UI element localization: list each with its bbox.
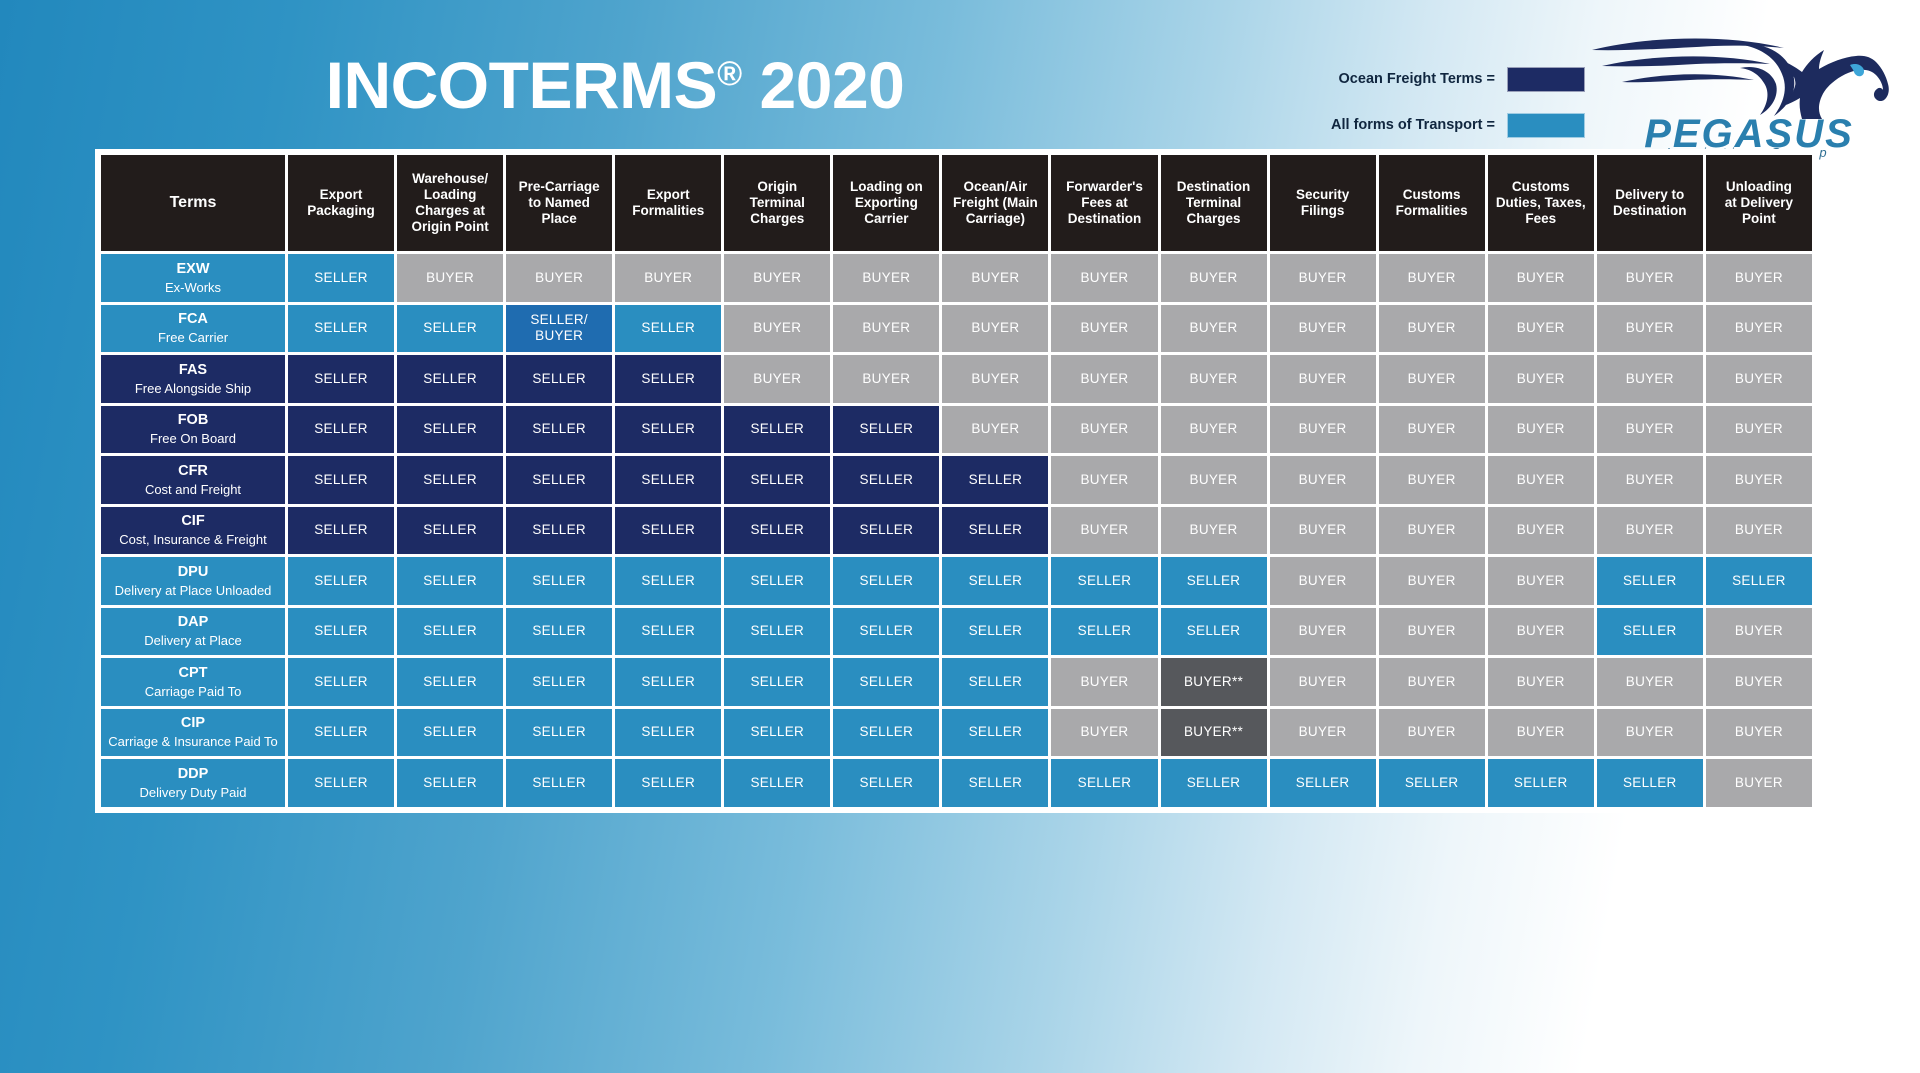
- cell-dpu-customs-formalities: BUYER: [1379, 557, 1485, 605]
- column-header-line: Destination: [1177, 179, 1251, 194]
- cell-cpt-loading-on-exporting-carrier: SELLER: [833, 658, 939, 706]
- column-header-line: Terminal: [1186, 195, 1241, 210]
- cell-cip-warehouse-loading-charges-at-origin-point: SELLER: [397, 709, 503, 757]
- cell-fas-warehouse-loading-charges-at-origin-point: SELLER: [397, 355, 503, 403]
- cell-ddp-warehouse-loading-charges-at-origin-point: SELLER: [397, 759, 503, 807]
- cell-fob-customs-duties-taxes-fees: BUYER: [1488, 406, 1594, 454]
- cell-dap-customs-formalities: BUYER: [1379, 608, 1485, 656]
- term-label-cip: CIPCarriage & Insurance Paid To: [101, 709, 285, 757]
- column-header-line: Ocean/Air: [964, 179, 1028, 194]
- term-name: Cost and Freight: [104, 482, 282, 498]
- cell-dpu-pre-carriage-to-named-place: SELLER: [506, 557, 612, 605]
- cell-fca-export-packaging: SELLER: [288, 305, 394, 353]
- cell-cip-origin-terminal-charges: SELLER: [724, 709, 830, 757]
- cell-ddp-security-filings: SELLER: [1270, 759, 1376, 807]
- legend-label-ocean-freight-terms: Ocean Freight Terms =: [1339, 71, 1495, 87]
- cell-exw-forwarder-s-fees-at-destination: BUYER: [1051, 254, 1157, 302]
- term-code: DAP: [104, 613, 282, 631]
- cell-ddp-destination-terminal-charges: SELLER: [1161, 759, 1267, 807]
- cell-cpt-warehouse-loading-charges-at-origin-point: SELLER: [397, 658, 503, 706]
- cell-cpt-security-filings: BUYER: [1270, 658, 1376, 706]
- term-label-dpu: DPUDelivery at Place Unloaded: [101, 557, 285, 605]
- cell-ddp-delivery-to-destination: SELLER: [1597, 759, 1703, 807]
- cell-fas-delivery-to-destination: BUYER: [1597, 355, 1703, 403]
- table-row: FCAFree CarrierSELLERSELLERSELLER/BUYERS…: [101, 305, 1812, 353]
- cell-cfr-customs-duties-taxes-fees: BUYER: [1488, 456, 1594, 504]
- term-code: FCA: [104, 310, 282, 328]
- term-name: Free Carrier: [104, 330, 282, 346]
- column-header-line: Pre-Carriage: [519, 179, 600, 194]
- cell-cip-pre-carriage-to-named-place: SELLER: [506, 709, 612, 757]
- column-header-line: Terms: [170, 194, 217, 211]
- cell-cpt-pre-carriage-to-named-place: SELLER: [506, 658, 612, 706]
- cell-dpu-forwarder-s-fees-at-destination: SELLER: [1051, 557, 1157, 605]
- cell-cfr-delivery-to-destination: BUYER: [1597, 456, 1703, 504]
- pegasus-horse-icon: [1588, 22, 1910, 120]
- cell-dpu-loading-on-exporting-carrier: SELLER: [833, 557, 939, 605]
- cell-dpu-unloading-at-delivery-point: SELLER: [1706, 557, 1812, 605]
- cell-fca-unloading-at-delivery-point: BUYER: [1706, 305, 1812, 353]
- term-name: Carriage Paid To: [104, 684, 282, 700]
- cell-dpu-origin-terminal-charges: SELLER: [724, 557, 830, 605]
- cell-dpu-export-packaging: SELLER: [288, 557, 394, 605]
- column-header-line: Packaging: [307, 203, 375, 218]
- term-label-cfr: CFRCost and Freight: [101, 456, 285, 504]
- cell-dpu-security-filings: BUYER: [1270, 557, 1376, 605]
- column-header-line: Customs: [1403, 187, 1461, 202]
- cell-cpt-forwarder-s-fees-at-destination: BUYER: [1051, 658, 1157, 706]
- cell-ddp-export-packaging: SELLER: [288, 759, 394, 807]
- column-header-line: Terminal: [750, 195, 805, 210]
- cell-ddp-forwarder-s-fees-at-destination: SELLER: [1051, 759, 1157, 807]
- page-title: INCOTERMS® 2020: [0, 52, 1230, 118]
- table-header-row: TermsExportPackagingWarehouse/LoadingCha…: [101, 155, 1812, 251]
- cell-cfr-unloading-at-delivery-point: BUYER: [1706, 456, 1812, 504]
- cell-cip-destination-terminal-charges: BUYER**: [1161, 709, 1267, 757]
- cell-fas-ocean-air-freight-main-carriage: BUYER: [942, 355, 1048, 403]
- cell-fca-origin-terminal-charges: BUYER: [724, 305, 830, 353]
- cell-exw-destination-terminal-charges: BUYER: [1161, 254, 1267, 302]
- cell-ddp-customs-formalities: SELLER: [1379, 759, 1485, 807]
- cell-cpt-destination-terminal-charges: BUYER**: [1161, 658, 1267, 706]
- cell-cpt-delivery-to-destination: BUYER: [1597, 658, 1703, 706]
- cell-cip-ocean-air-freight-main-carriage: SELLER: [942, 709, 1048, 757]
- cell-fca-delivery-to-destination: BUYER: [1597, 305, 1703, 353]
- column-header-line: Charges: [750, 211, 804, 226]
- column-header-security-filings: SecurityFilings: [1270, 155, 1376, 251]
- cell-exw-export-packaging: SELLER: [288, 254, 394, 302]
- cell-fas-origin-terminal-charges: BUYER: [724, 355, 830, 403]
- cell-fas-destination-terminal-charges: BUYER: [1161, 355, 1267, 403]
- table-row: DDPDelivery Duty PaidSELLERSELLERSELLERS…: [101, 759, 1812, 807]
- cell-cif-loading-on-exporting-carrier: SELLER: [833, 507, 939, 555]
- cell-fob-forwarder-s-fees-at-destination: BUYER: [1051, 406, 1157, 454]
- column-header-line: Forwarder's: [1066, 179, 1143, 194]
- term-name: Delivery Duty Paid: [104, 785, 282, 801]
- pegasus-logo: PEGASUS Logistics Group: [1588, 22, 1910, 162]
- cell-cfr-destination-terminal-charges: BUYER: [1161, 456, 1267, 504]
- term-label-exw: EXWEx-Works: [101, 254, 285, 302]
- column-header-delivery-to-destination: Delivery toDestination: [1597, 155, 1703, 251]
- column-header-line: Place: [542, 211, 577, 226]
- cell-cip-delivery-to-destination: BUYER: [1597, 709, 1703, 757]
- column-header-pre-carriage-to-named-place: Pre-Carriageto NamedPlace: [506, 155, 612, 251]
- cell-dpu-export-formalities: SELLER: [615, 557, 721, 605]
- legend-item-ocean-freight-terms: Ocean Freight Terms =: [1285, 62, 1585, 96]
- cell-cip-unloading-at-delivery-point: BUYER: [1706, 709, 1812, 757]
- cell-cif-export-formalities: SELLER: [615, 507, 721, 555]
- cell-fas-export-formalities: SELLER: [615, 355, 721, 403]
- cell-cfr-warehouse-loading-charges-at-origin-point: SELLER: [397, 456, 503, 504]
- column-header-line: Formalities: [1396, 203, 1468, 218]
- incoterms-table-container: TermsExportPackagingWarehouse/LoadingCha…: [95, 149, 1818, 813]
- term-code: EXW: [104, 260, 282, 278]
- column-header-destination-terminal-charges: DestinationTerminalCharges: [1161, 155, 1267, 251]
- column-header-line: at Delivery: [1725, 195, 1793, 210]
- cell-fca-loading-on-exporting-carrier: BUYER: [833, 305, 939, 353]
- legend-label-all-forms-of-transport: All forms of Transport =: [1331, 117, 1495, 133]
- cell-fca-destination-terminal-charges: BUYER: [1161, 305, 1267, 353]
- cell-cif-destination-terminal-charges: BUYER: [1161, 507, 1267, 555]
- column-header-forwarder-s-fees-at-destination: Forwarder'sFees atDestination: [1051, 155, 1157, 251]
- cell-dap-export-packaging: SELLER: [288, 608, 394, 656]
- term-label-fob: FOBFree On Board: [101, 406, 285, 454]
- term-name: Delivery at Place: [104, 633, 282, 649]
- cell-cip-export-packaging: SELLER: [288, 709, 394, 757]
- term-code: DDP: [104, 765, 282, 783]
- term-code: CFR: [104, 462, 282, 480]
- column-header-line: Duties, Taxes,: [1496, 195, 1586, 210]
- cell-fas-customs-formalities: BUYER: [1379, 355, 1485, 403]
- cell-dap-forwarder-s-fees-at-destination: SELLER: [1051, 608, 1157, 656]
- cell-ddp-export-formalities: SELLER: [615, 759, 721, 807]
- cell-ddp-pre-carriage-to-named-place: SELLER: [506, 759, 612, 807]
- column-header-customs-formalities: CustomsFormalities: [1379, 155, 1485, 251]
- cell-cpt-origin-terminal-charges: SELLER: [724, 658, 830, 706]
- term-name: Ex-Works: [104, 280, 282, 296]
- cell-dap-destination-terminal-charges: SELLER: [1161, 608, 1267, 656]
- cell-cip-security-filings: BUYER: [1270, 709, 1376, 757]
- term-code: FAS: [104, 361, 282, 379]
- cell-ddp-loading-on-exporting-carrier: SELLER: [833, 759, 939, 807]
- cell-dap-unloading-at-delivery-point: BUYER: [1706, 608, 1812, 656]
- cell-fob-customs-formalities: BUYER: [1379, 406, 1485, 454]
- cell-cif-customs-formalities: BUYER: [1379, 507, 1485, 555]
- term-label-fca: FCAFree Carrier: [101, 305, 285, 353]
- legend-item-all-forms-of-transport: All forms of Transport =: [1285, 108, 1585, 142]
- term-name: Delivery at Place Unloaded: [104, 583, 282, 599]
- column-header-line: Customs: [1512, 179, 1570, 194]
- cell-cpt-export-packaging: SELLER: [288, 658, 394, 706]
- cell-cfr-security-filings: BUYER: [1270, 456, 1376, 504]
- table-row: FASFree Alongside ShipSELLERSELLERSELLER…: [101, 355, 1812, 403]
- term-code: CIF: [104, 512, 282, 530]
- cell-exw-export-formalities: BUYER: [615, 254, 721, 302]
- cell-fca-pre-carriage-to-named-place: SELLER/BUYER: [506, 305, 612, 353]
- cell-cfr-forwarder-s-fees-at-destination: BUYER: [1051, 456, 1157, 504]
- cell-cpt-ocean-air-freight-main-carriage: SELLER: [942, 658, 1048, 706]
- cell-dap-loading-on-exporting-carrier: SELLER: [833, 608, 939, 656]
- cell-fca-security-filings: BUYER: [1270, 305, 1376, 353]
- cell-exw-delivery-to-destination: BUYER: [1597, 254, 1703, 302]
- cell-fas-unloading-at-delivery-point: BUYER: [1706, 355, 1812, 403]
- column-header-loading-on-exporting-carrier: Loading onExportingCarrier: [833, 155, 939, 251]
- cell-fca-forwarder-s-fees-at-destination: BUYER: [1051, 305, 1157, 353]
- incoterms-infographic: INCOTERMS® 2020 Ocean Freight Terms = Al…: [0, 0, 1920, 1073]
- term-name: Cost, Insurance & Freight: [104, 532, 282, 548]
- column-header-line: to Named: [528, 195, 590, 210]
- cell-dpu-customs-duties-taxes-fees: BUYER: [1488, 557, 1594, 605]
- cell-cif-delivery-to-destination: BUYER: [1597, 507, 1703, 555]
- cell-ddp-ocean-air-freight-main-carriage: SELLER: [942, 759, 1048, 807]
- table-row: FOBFree On BoardSELLERSELLERSELLERSELLER…: [101, 406, 1812, 454]
- cell-cfr-pre-carriage-to-named-place: SELLER: [506, 456, 612, 504]
- cell-ddp-origin-terminal-charges: SELLER: [724, 759, 830, 807]
- cell-fca-customs-formalities: BUYER: [1379, 305, 1485, 353]
- cell-cif-unloading-at-delivery-point: BUYER: [1706, 507, 1812, 555]
- term-label-cif: CIFCost, Insurance & Freight: [101, 507, 285, 555]
- column-header-line: Carrier: [864, 211, 908, 226]
- column-header-line: Filings: [1301, 203, 1345, 218]
- term-code: DPU: [104, 563, 282, 581]
- column-header-customs-duties-taxes-fees: CustomsDuties, Taxes,Fees: [1488, 155, 1594, 251]
- table-row: CPTCarriage Paid ToSELLERSELLERSELLERSEL…: [101, 658, 1812, 706]
- legend: Ocean Freight Terms = All forms of Trans…: [1285, 62, 1585, 154]
- legend-swatch-all-forms-of-transport: [1507, 113, 1585, 138]
- term-label-ddp: DDPDelivery Duty Paid: [101, 759, 285, 807]
- cell-fob-destination-terminal-charges: BUYER: [1161, 406, 1267, 454]
- page-title-main: INCOTERMS: [326, 48, 718, 122]
- term-name: Carriage & Insurance Paid To: [104, 734, 282, 750]
- cell-fca-export-formalities: SELLER: [615, 305, 721, 353]
- table-body: EXWEx-WorksSELLERBUYERBUYERBUYERBUYERBUY…: [101, 254, 1812, 807]
- cell-fob-pre-carriage-to-named-place: SELLER: [506, 406, 612, 454]
- table-row: CFRCost and FreightSELLERSELLERSELLERSEL…: [101, 456, 1812, 504]
- cell-dpu-warehouse-loading-charges-at-origin-point: SELLER: [397, 557, 503, 605]
- cell-dap-warehouse-loading-charges-at-origin-point: SELLER: [397, 608, 503, 656]
- cell-dap-export-formalities: SELLER: [615, 608, 721, 656]
- cell-fob-ocean-air-freight-main-carriage: BUYER: [942, 406, 1048, 454]
- cell-cif-warehouse-loading-charges-at-origin-point: SELLER: [397, 507, 503, 555]
- table-header: TermsExportPackagingWarehouse/LoadingCha…: [101, 155, 1812, 251]
- table-row: EXWEx-WorksSELLERBUYERBUYERBUYERBUYERBUY…: [101, 254, 1812, 302]
- cell-cip-export-formalities: SELLER: [615, 709, 721, 757]
- column-header-line: Export: [320, 187, 363, 202]
- column-header-line: Formalities: [632, 203, 704, 218]
- column-header-line: Charges: [1187, 211, 1241, 226]
- term-code: CPT: [104, 664, 282, 682]
- cell-fca-customs-duties-taxes-fees: BUYER: [1488, 305, 1594, 353]
- column-header-line: Carriage): [966, 211, 1025, 226]
- cell-ddp-customs-duties-taxes-fees: SELLER: [1488, 759, 1594, 807]
- term-code: FOB: [104, 411, 282, 429]
- cell-exw-customs-duties-taxes-fees: BUYER: [1488, 254, 1594, 302]
- cell-fob-security-filings: BUYER: [1270, 406, 1376, 454]
- column-header-ocean-air-freight-main-carriage: Ocean/AirFreight (MainCarriage): [942, 155, 1048, 251]
- cell-dap-ocean-air-freight-main-carriage: SELLER: [942, 608, 1048, 656]
- cell-cip-loading-on-exporting-carrier: SELLER: [833, 709, 939, 757]
- column-header-unloading-at-delivery-point: Unloadingat DeliveryPoint: [1706, 155, 1812, 251]
- cell-fas-security-filings: BUYER: [1270, 355, 1376, 403]
- column-header-line: Fees at: [1081, 195, 1128, 210]
- cell-dap-origin-terminal-charges: SELLER: [724, 608, 830, 656]
- cell-exw-ocean-air-freight-main-carriage: BUYER: [942, 254, 1048, 302]
- cell-cif-ocean-air-freight-main-carriage: SELLER: [942, 507, 1048, 555]
- cell-fas-loading-on-exporting-carrier: BUYER: [833, 355, 939, 403]
- column-header-line: Loading: [424, 187, 477, 202]
- column-header-line: Loading on: [850, 179, 923, 194]
- cell-dap-delivery-to-destination: SELLER: [1597, 608, 1703, 656]
- column-header-line: Security: [1296, 187, 1349, 202]
- cell-dpu-ocean-air-freight-main-carriage: SELLER: [942, 557, 1048, 605]
- term-label-cpt: CPTCarriage Paid To: [101, 658, 285, 706]
- term-name: Free Alongside Ship: [104, 381, 282, 397]
- cell-exw-loading-on-exporting-carrier: BUYER: [833, 254, 939, 302]
- column-header-line: Warehouse/: [412, 171, 488, 186]
- cell-cpt-customs-formalities: BUYER: [1379, 658, 1485, 706]
- cell-cfr-customs-formalities: BUYER: [1379, 456, 1485, 504]
- table-row: CIPCarriage & Insurance Paid ToSELLERSEL…: [101, 709, 1812, 757]
- cell-dap-security-filings: BUYER: [1270, 608, 1376, 656]
- cell-dpu-destination-terminal-charges: SELLER: [1161, 557, 1267, 605]
- cell-exw-security-filings: BUYER: [1270, 254, 1376, 302]
- term-label-fas: FASFree Alongside Ship: [101, 355, 285, 403]
- cell-fca-ocean-air-freight-main-carriage: BUYER: [942, 305, 1048, 353]
- cell-cip-customs-duties-taxes-fees: BUYER: [1488, 709, 1594, 757]
- cell-fob-origin-terminal-charges: SELLER: [724, 406, 830, 454]
- term-label-dap: DAPDelivery at Place: [101, 608, 285, 656]
- cell-fob-warehouse-loading-charges-at-origin-point: SELLER: [397, 406, 503, 454]
- column-header-warehouse-loading-charges-at-origin-point: Warehouse/LoadingCharges atOrigin Point: [397, 155, 503, 251]
- table-row: CIFCost, Insurance & FreightSELLERSELLER…: [101, 507, 1812, 555]
- cell-exw-pre-carriage-to-named-place: BUYER: [506, 254, 612, 302]
- column-header-line: Point: [1742, 211, 1776, 226]
- column-header-line: Freight (Main: [953, 195, 1038, 210]
- cell-cif-origin-terminal-charges: SELLER: [724, 507, 830, 555]
- cell-cif-security-filings: BUYER: [1270, 507, 1376, 555]
- column-header-line: Origin: [757, 179, 797, 194]
- incoterms-matrix-table: TermsExportPackagingWarehouse/LoadingCha…: [98, 152, 1815, 810]
- registered-mark: ®: [717, 55, 742, 93]
- cell-cif-customs-duties-taxes-fees: BUYER: [1488, 507, 1594, 555]
- column-header-line: Destination: [1068, 211, 1142, 226]
- cell-cfr-origin-terminal-charges: SELLER: [724, 456, 830, 504]
- cell-exw-origin-terminal-charges: BUYER: [724, 254, 830, 302]
- column-header-line: Charges at: [415, 203, 485, 218]
- cell-exw-customs-formalities: BUYER: [1379, 254, 1485, 302]
- term-name: Free On Board: [104, 431, 282, 447]
- cell-exw-unloading-at-delivery-point: BUYER: [1706, 254, 1812, 302]
- cell-exw-warehouse-loading-charges-at-origin-point: BUYER: [397, 254, 503, 302]
- cell-cfr-export-formalities: SELLER: [615, 456, 721, 504]
- column-header-line: Exporting: [855, 195, 918, 210]
- column-header-line: Origin Point: [411, 219, 488, 234]
- table-row: DPUDelivery at Place UnloadedSELLERSELLE…: [101, 557, 1812, 605]
- term-code: CIP: [104, 714, 282, 732]
- column-header-line: Export: [647, 187, 690, 202]
- cell-fob-unloading-at-delivery-point: BUYER: [1706, 406, 1812, 454]
- cell-fob-export-packaging: SELLER: [288, 406, 394, 454]
- column-header-origin-terminal-charges: OriginTerminalCharges: [724, 155, 830, 251]
- cell-fas-export-packaging: SELLER: [288, 355, 394, 403]
- cell-cif-forwarder-s-fees-at-destination: BUYER: [1051, 507, 1157, 555]
- cell-cfr-export-packaging: SELLER: [288, 456, 394, 504]
- column-header-export-packaging: ExportPackaging: [288, 155, 394, 251]
- cell-ddp-unloading-at-delivery-point: BUYER: [1706, 759, 1812, 807]
- cell-cfr-ocean-air-freight-main-carriage: SELLER: [942, 456, 1048, 504]
- cell-cpt-unloading-at-delivery-point: BUYER: [1706, 658, 1812, 706]
- cell-dap-pre-carriage-to-named-place: SELLER: [506, 608, 612, 656]
- column-header-export-formalities: ExportFormalities: [615, 155, 721, 251]
- cell-cip-forwarder-s-fees-at-destination: BUYER: [1051, 709, 1157, 757]
- cell-fca-warehouse-loading-charges-at-origin-point: SELLER: [397, 305, 503, 353]
- legend-swatch-ocean-freight-terms: [1507, 67, 1585, 92]
- cell-dpu-delivery-to-destination: SELLER: [1597, 557, 1703, 605]
- cell-cif-export-packaging: SELLER: [288, 507, 394, 555]
- cell-fas-forwarder-s-fees-at-destination: BUYER: [1051, 355, 1157, 403]
- cell-fas-pre-carriage-to-named-place: SELLER: [506, 355, 612, 403]
- cell-fas-customs-duties-taxes-fees: BUYER: [1488, 355, 1594, 403]
- column-header-line: Delivery to: [1615, 187, 1684, 202]
- page-title-year: 2020: [760, 48, 905, 122]
- cell-cpt-export-formalities: SELLER: [615, 658, 721, 706]
- cell-cpt-customs-duties-taxes-fees: BUYER: [1488, 658, 1594, 706]
- cell-cfr-loading-on-exporting-carrier: SELLER: [833, 456, 939, 504]
- column-header-line: Destination: [1613, 203, 1687, 218]
- cell-fob-export-formalities: SELLER: [615, 406, 721, 454]
- cell-cip-customs-formalities: BUYER: [1379, 709, 1485, 757]
- column-header-line: Unloading: [1726, 179, 1792, 194]
- cell-cif-pre-carriage-to-named-place: SELLER: [506, 507, 612, 555]
- cell-fob-delivery-to-destination: BUYER: [1597, 406, 1703, 454]
- table-row: DAPDelivery at PlaceSELLERSELLERSELLERSE…: [101, 608, 1812, 656]
- cell-dap-customs-duties-taxes-fees: BUYER: [1488, 608, 1594, 656]
- column-header-terms: Terms: [101, 155, 285, 251]
- column-header-line: Fees: [1525, 211, 1556, 226]
- cell-fob-loading-on-exporting-carrier: SELLER: [833, 406, 939, 454]
